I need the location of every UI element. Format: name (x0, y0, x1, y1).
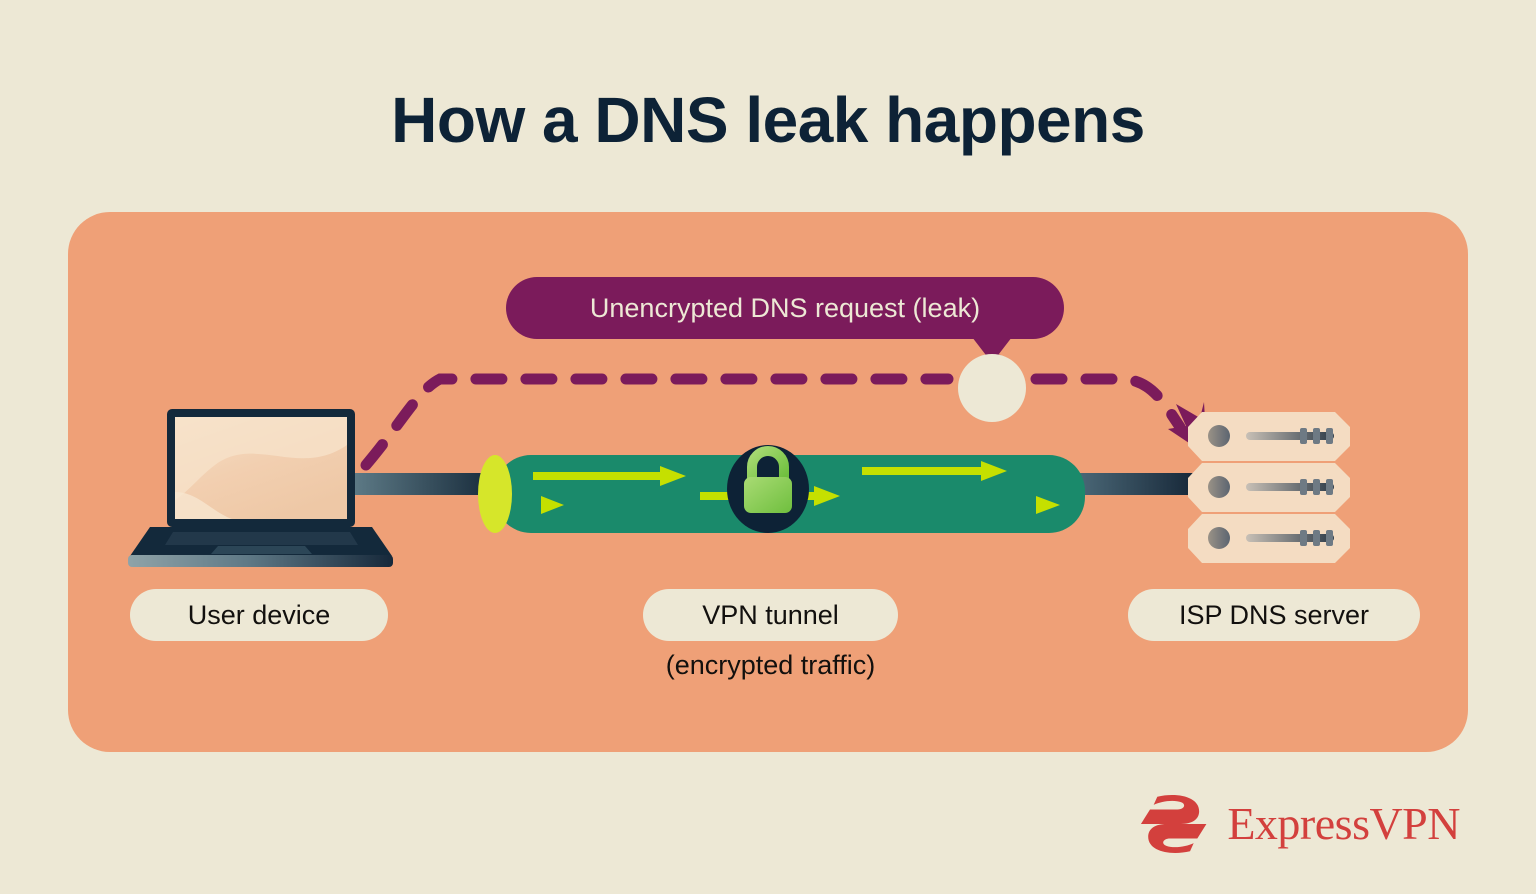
label-vpn-tunnel: VPN tunnel (643, 589, 898, 641)
expressvpn-logo: ExpressVPN (1130, 788, 1460, 860)
leak-callout-label: Unencrypted DNS request (leak) (590, 293, 980, 324)
leak-callout-pill: Unencrypted DNS request (leak) (506, 277, 1064, 339)
closed-padlock-icon (727, 445, 809, 533)
label-isp-dns-server-text: ISP DNS server (1179, 600, 1369, 631)
label-isp-dns-server: ISP DNS server (1128, 589, 1420, 641)
label-user-device-text: User device (188, 600, 331, 631)
laptop-icon (128, 409, 393, 567)
server-rack-unit (1188, 463, 1350, 512)
open-padlock-badge (958, 354, 1026, 422)
cable-right (1070, 473, 1205, 495)
server-rack-unit (1188, 514, 1350, 563)
diagram-scene (0, 0, 1536, 894)
label-vpn-tunnel-text: VPN tunnel (702, 600, 839, 631)
server-rack-unit (1188, 412, 1350, 461)
label-encrypted-traffic: (encrypted traffic) (643, 650, 898, 681)
expressvpn-wordmark: ExpressVPN (1227, 801, 1460, 847)
expressvpn-e-mark-icon (1130, 788, 1217, 860)
server-rack-icon (1188, 412, 1350, 563)
label-user-device: User device (130, 589, 388, 641)
tunnel-icon (478, 445, 1085, 533)
